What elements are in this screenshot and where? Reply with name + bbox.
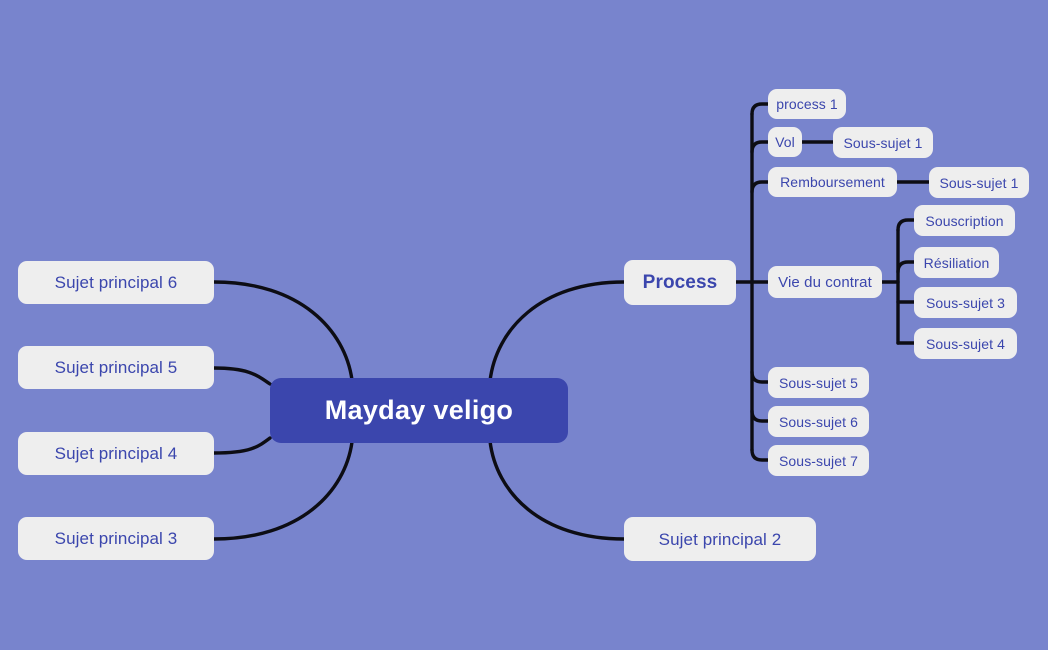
node-label: Sous-sujet 1: [843, 136, 922, 150]
node-vie-sous-sujet-4[interactable]: Sous-sujet 4: [914, 328, 1017, 359]
node-label: Sujet principal 6: [55, 274, 178, 291]
node-sujet-principal-3[interactable]: Sujet principal 3: [18, 517, 214, 560]
node-process-1[interactable]: process 1: [768, 89, 846, 119]
node-label: Sous-sujet 4: [926, 337, 1005, 351]
edge-process-to-sous6: [752, 411, 768, 421]
node-resiliation[interactable]: Résiliation: [914, 247, 999, 278]
node-remboursement-sous-sujet-1[interactable]: Sous-sujet 1: [929, 167, 1029, 198]
edge-root-sujet4: [214, 438, 270, 453]
node-label: Vie du contrat: [778, 275, 872, 290]
node-label: Sujet principal 4: [55, 445, 178, 462]
edge-vie-to-souscription: [898, 220, 914, 230]
edge-process-to-sous5: [752, 372, 768, 382]
node-process[interactable]: Process: [624, 260, 736, 305]
node-label: Résiliation: [924, 256, 990, 270]
node-sujet-principal-4[interactable]: Sujet principal 4: [18, 432, 214, 475]
node-label: Sujet principal 3: [55, 530, 178, 547]
node-label: Sujet principal 2: [659, 531, 782, 548]
edge-process-to-remboursement: [752, 182, 768, 192]
node-label: Vol: [775, 135, 795, 149]
node-sujet-principal-6[interactable]: Sujet principal 6: [18, 261, 214, 304]
edge-root-process: [490, 282, 624, 381]
node-label: Remboursement: [780, 175, 885, 189]
node-souscription[interactable]: Souscription: [914, 205, 1015, 236]
node-label: process 1: [776, 97, 838, 111]
node-vie-du-contrat[interactable]: Vie du contrat: [768, 266, 882, 298]
node-label: Sous-sujet 5: [779, 376, 858, 390]
edge-vie-to-resiliation: [898, 262, 914, 272]
edge-process-to-process1: [752, 104, 768, 114]
node-sujet-principal-5[interactable]: Sujet principal 5: [18, 346, 214, 389]
root-node-label: Mayday veligo: [325, 397, 513, 424]
edge-process-to-sous7: [752, 450, 768, 460]
node-label: Sujet principal 5: [55, 359, 178, 376]
node-vol[interactable]: Vol: [768, 127, 802, 157]
node-label: Souscription: [925, 214, 1003, 228]
node-label: Process: [643, 273, 718, 292]
edge-root-sujet6: [214, 282, 352, 380]
mindmap-canvas[interactable]: Mayday veligo Sujet principal 6 Sujet pr…: [0, 0, 1048, 650]
node-label: Sous-sujet 6: [779, 415, 858, 429]
node-label: Sous-sujet 3: [926, 296, 1005, 310]
node-sujet-principal-2[interactable]: Sujet principal 2: [624, 517, 816, 561]
edge-root-sujet5: [214, 368, 270, 384]
root-node[interactable]: Mayday veligo: [270, 378, 568, 443]
node-vie-sous-sujet-3[interactable]: Sous-sujet 3: [914, 287, 1017, 318]
node-remboursement[interactable]: Remboursement: [768, 167, 897, 197]
node-sous-sujet-6[interactable]: Sous-sujet 6: [768, 406, 869, 437]
edge-process-to-vol: [752, 142, 768, 152]
node-label: Sous-sujet 7: [779, 454, 858, 468]
edge-root-sujet3: [214, 442, 352, 539]
node-sous-sujet-5[interactable]: Sous-sujet 5: [768, 367, 869, 398]
node-vol-sous-sujet-1[interactable]: Sous-sujet 1: [833, 127, 933, 158]
edge-root-sujet2: [490, 441, 624, 539]
node-label: Sous-sujet 1: [939, 176, 1018, 190]
node-sous-sujet-7[interactable]: Sous-sujet 7: [768, 445, 869, 476]
